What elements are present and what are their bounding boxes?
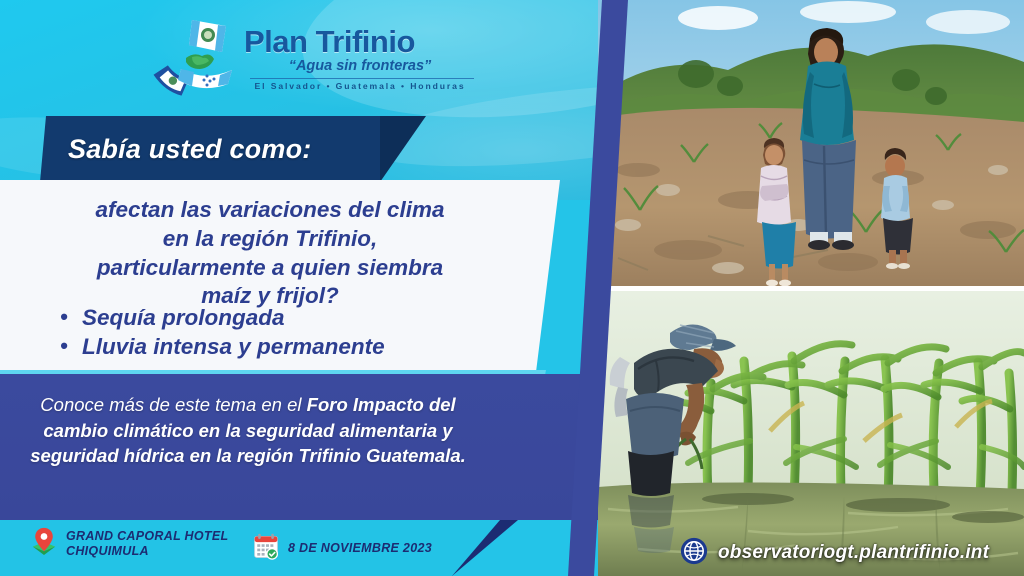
poster-root: Plan Trifinio “Agua sin fronteras” El Sa…	[0, 0, 1024, 576]
brand-countries: El Salvador • Guatemala • Honduras	[244, 81, 476, 91]
brand-divider	[250, 78, 474, 79]
map-pin-icon	[30, 526, 58, 561]
list-item: Lluvia intensa y permanente	[60, 333, 510, 362]
question-panel: afectan las variaciones del clima en la …	[0, 180, 560, 372]
bullet-list: Sequía prolongada Lluvia intensa y perma…	[60, 304, 510, 361]
question-line-1: afectan las variaciones del clima	[30, 196, 510, 225]
list-item: Sequía prolongada	[60, 304, 510, 333]
brand-tagline: “Agua sin fronteras”	[244, 59, 476, 75]
location-line-2: CHIQUIMULA	[66, 544, 149, 558]
question-line-3: particularmente a quien siembra	[30, 254, 510, 283]
headline-ribbon: Sabía usted como:	[40, 116, 380, 182]
event-date: 8 DE NOVIEMBRE 2023	[252, 532, 432, 565]
brand-logo: Plan Trifinio “Agua sin fronteras” El Sa…	[148, 10, 478, 105]
photo-family-in-drought-field	[598, 0, 1024, 288]
website-url[interactable]: observatoriogt.plantrifinio.int	[718, 542, 989, 564]
headline-text: Sabía usted como:	[68, 134, 311, 165]
photo-column	[598, 0, 1024, 576]
event-location: GRAND CAPORAL HOTEL CHIQUIMULA	[30, 526, 228, 561]
promo-band: Conoce más de este tema en el Foro Impac…	[0, 374, 620, 520]
brand-name: Plan Trifinio	[244, 26, 476, 57]
location-line-1: GRAND CAPORAL HOTEL	[66, 529, 228, 543]
calendar-icon	[252, 532, 280, 565]
event-date-text: 8 DE NOVIEMBRE 2023	[288, 541, 432, 556]
ribbon-fold-shape	[380, 116, 426, 182]
effects-bullet-list: Sequía prolongada Lluvia intensa y perma…	[60, 304, 510, 361]
trifinio-three-flags-logo-icon	[148, 14, 244, 106]
event-location-text: GRAND CAPORAL HOTEL CHIQUIMULA	[66, 529, 228, 559]
promo-text: Conoce más de este tema en el Foro Impac…	[18, 392, 478, 469]
question-text: afectan las variaciones del clima en la …	[30, 196, 510, 311]
question-line-2: en la región Trifinio,	[30, 225, 510, 254]
globe-icon	[680, 537, 708, 570]
brand-wordmark: Plan Trifinio “Agua sin fronteras” El Sa…	[244, 26, 476, 91]
promo-prefix: Conoce más de este tema en el	[40, 394, 306, 415]
left-content-column: Plan Trifinio “Agua sin fronteras” El Sa…	[0, 0, 620, 576]
website-footer: observatoriogt.plantrifinio.int	[598, 534, 1024, 572]
